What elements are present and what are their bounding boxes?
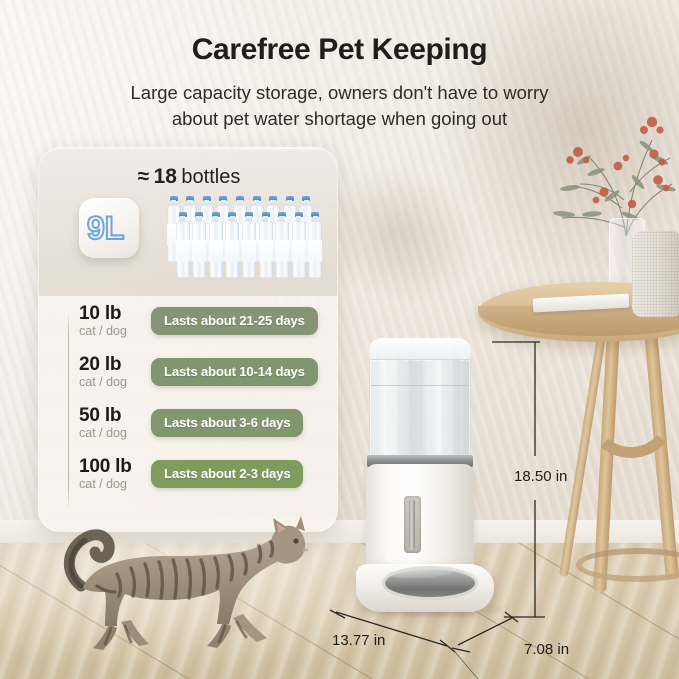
weight-label: 50 lb cat / dog xyxy=(79,405,159,441)
page-title: Carefree Pet Keeping xyxy=(0,33,679,67)
weight-value: 100 lb xyxy=(79,456,159,477)
depth-dimension-label: 7.08 in xyxy=(524,641,569,658)
speaker-mesh xyxy=(632,231,679,317)
speaker-device xyxy=(632,231,679,317)
height-dimension-label: 18.50 in xyxy=(514,468,567,485)
card-section-divider xyxy=(39,296,338,297)
page-subtitle: Large capacity storage, owners don't hav… xyxy=(60,80,619,132)
bottle-label xyxy=(275,240,289,262)
capacity-badge-text: 9L xyxy=(86,211,132,245)
capacity-info-card: ≈ 18 bottles 9L 10 lb cat / dog Lasts ab… xyxy=(38,147,338,532)
subtitle-line-1: Large capacity storage, owners don't hav… xyxy=(60,80,619,106)
bottle-label xyxy=(292,240,306,262)
water-bottle-icon xyxy=(307,212,324,278)
duration-badge: Lasts about 21-25 days xyxy=(151,307,318,335)
duration-badge: Lasts about 2-3 days xyxy=(151,460,303,488)
bottle-count-value: 18 xyxy=(154,165,177,188)
duration-row: 20 lb cat / dog Lasts about 10-14 days xyxy=(39,351,338,402)
weight-value: 20 lb xyxy=(79,354,159,375)
pet-water-dispenser xyxy=(352,338,506,616)
width-dimension-label: 13.77 in xyxy=(332,632,385,649)
weight-value: 50 lb xyxy=(79,405,159,426)
product-infographic: Carefree Pet Keeping Large capacity stor… xyxy=(0,0,679,679)
bowl-rim xyxy=(382,566,478,600)
capacity-badge-glyph: 9L xyxy=(87,211,124,245)
tank-water-level xyxy=(371,361,469,462)
water-bottle-icon xyxy=(257,212,274,278)
duration-row: 50 lb cat / dog Lasts about 3-6 days xyxy=(39,402,338,453)
pet-type-label: cat / dog xyxy=(79,324,159,339)
weight-label: 10 lb cat / dog xyxy=(79,303,159,339)
duration-badge: Lasts about 10-14 days xyxy=(151,358,318,386)
water-bottle-icon xyxy=(274,212,291,278)
bottle-count-header: ≈ 18 bottles xyxy=(39,165,338,189)
bottle-label xyxy=(259,240,273,262)
water-bottle-icon xyxy=(174,212,191,278)
weight-label: 20 lb cat / dog xyxy=(79,354,159,390)
tabby-cat xyxy=(47,512,337,652)
tank-water-line xyxy=(371,385,469,386)
water-bottle-icon xyxy=(240,212,257,278)
water-bottle-icon xyxy=(290,212,307,278)
duration-row: 100 lb cat / dog Lasts about 2-3 days xyxy=(39,453,338,504)
bottle-count-unit: bottles xyxy=(181,166,240,188)
pet-type-label: cat / dog xyxy=(79,375,159,390)
duration-row: 10 lb cat / dog Lasts about 21-25 days xyxy=(39,300,338,351)
pet-type-label: cat / dog xyxy=(79,426,159,441)
dispenser-valve-rod xyxy=(409,499,415,550)
tank-lid xyxy=(369,338,471,360)
bottle-label xyxy=(225,240,239,262)
water-bottle-icon xyxy=(207,212,224,278)
bottle-label xyxy=(242,240,256,262)
duration-list: 10 lb cat / dog Lasts about 21-25 days 2… xyxy=(39,300,338,504)
approx-equal-icon: ≈ xyxy=(138,165,150,188)
bottle-label xyxy=(209,240,223,262)
weight-label: 100 lb cat / dog xyxy=(79,456,159,492)
duration-badge: Lasts about 3-6 days xyxy=(151,409,303,437)
bottle-row-front xyxy=(174,212,323,278)
bottle-label xyxy=(192,240,206,262)
water-bottle-group xyxy=(165,196,333,282)
water-bottle-icon xyxy=(191,212,208,278)
subtitle-line-2: about pet water shortage when going out xyxy=(60,106,619,132)
pet-type-label: cat / dog xyxy=(79,477,159,492)
weight-value: 10 lb xyxy=(79,303,159,324)
water-bottle-icon xyxy=(224,212,241,278)
bottle-label xyxy=(308,240,322,262)
capacity-badge-icon: 9L xyxy=(79,198,139,258)
bottle-label xyxy=(176,240,190,262)
